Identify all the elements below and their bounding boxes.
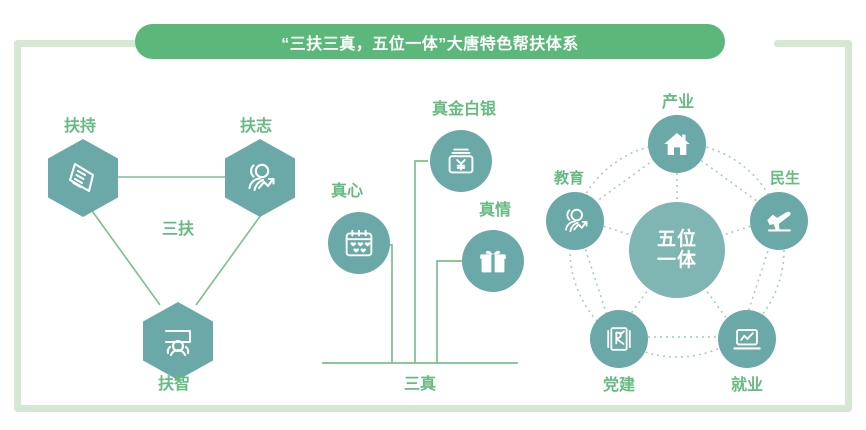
node-label-fuzhi-wisdom: 扶智	[134, 370, 214, 394]
laptop-chart-icon[interactable]	[718, 310, 776, 368]
node-label-fuchi: 扶持	[40, 112, 120, 136]
middle-section-label: 三真	[380, 370, 460, 394]
frame-left-edge	[14, 40, 21, 412]
node-label-dangjian: 党建	[586, 371, 652, 395]
teacher-board-icon[interactable]	[143, 302, 213, 380]
money-yuan-icon[interactable]	[430, 130, 492, 192]
node-label-zhenjinbaiyin: 真金白银	[412, 95, 516, 119]
pentagon-center-badge: 五位 一体	[629, 202, 725, 298]
node-label-jiaoyu: 教育	[536, 167, 602, 188]
node-label-zhenqing: 真情	[455, 196, 535, 220]
frame-top-right-edge	[774, 40, 852, 47]
airplane-icon[interactable]	[750, 192, 808, 250]
center-label-line2: 一体	[657, 250, 697, 271]
gift-box-icon[interactable]	[462, 230, 524, 292]
center-label-line1: 五位	[657, 229, 697, 250]
frame-bottom-edge	[14, 405, 852, 412]
title-banner: “三扶三真，五位一体”大唐特色帮扶体系	[135, 24, 725, 59]
node-label-chanye: 产业	[645, 88, 711, 112]
house-icon[interactable]	[648, 115, 706, 173]
node-label-zhenxin: 真心	[314, 177, 380, 201]
person-growth-icon-education[interactable]	[546, 192, 604, 250]
frame-top-left-edge	[14, 40, 139, 47]
node-label-minsheng: 民生	[752, 167, 818, 188]
node-label-jiuye: 就业	[714, 371, 780, 395]
handshake-icon[interactable]	[48, 139, 118, 217]
node-label-fuzhi-aspiration: 扶志	[216, 112, 296, 136]
party-emblem-icon[interactable]	[590, 310, 648, 368]
calendar-hearts-icon[interactable]	[328, 212, 390, 274]
person-growth-icon[interactable]	[225, 139, 295, 217]
page-title: “三扶三真，五位一体”大唐特色帮扶体系	[281, 30, 579, 54]
left-section-label: 三扶	[138, 215, 218, 239]
infographic-canvas: “三扶三真，五位一体”大唐特色帮扶体系 扶持 扶志	[0, 0, 866, 430]
frame-right-edge	[845, 40, 852, 412]
